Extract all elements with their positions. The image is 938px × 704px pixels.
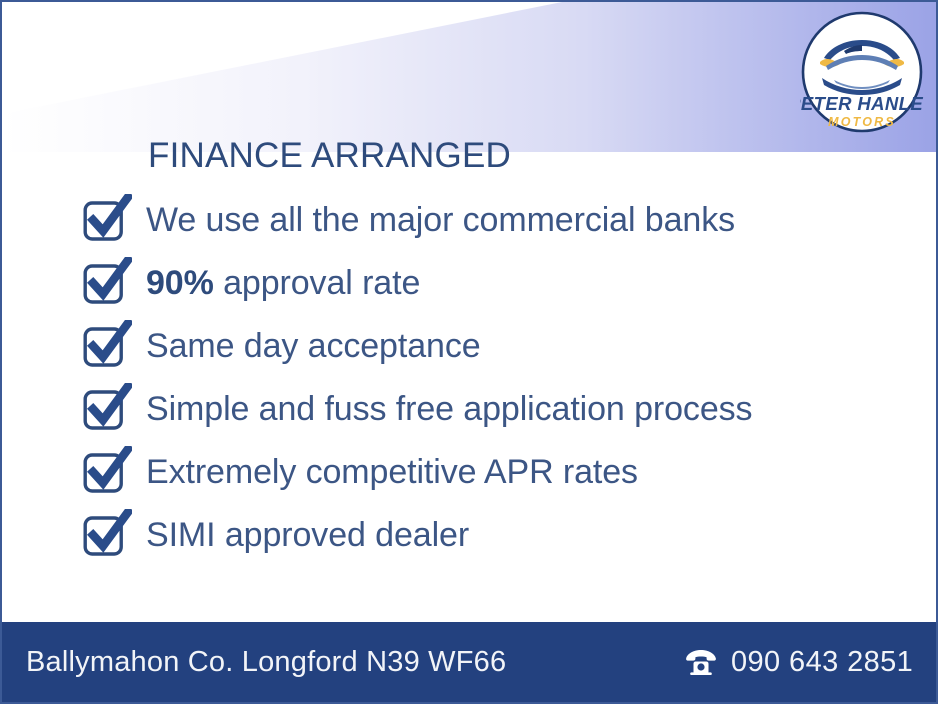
list-item-label: We use all the major commercial banks [146,203,735,237]
list-item: We use all the major commercial banks [82,188,882,251]
dealer-logo: PETER HANLEY MOTORS [800,10,924,134]
list-item-text: Simple and fuss free application process [146,390,752,428]
checkbox-checked-icon [82,194,132,246]
list-item-label: 90% approval rate [146,266,420,300]
checkbox-checked-icon [82,383,132,435]
list-item-label: Extremely competitive APR rates [146,455,638,489]
list-item-text: approval rate [214,264,421,302]
list-item: SIMI approved dealer [82,503,882,566]
footer-contact: 090 643 2851 [684,646,913,679]
page-title: FINANCE ARRANGED [148,136,511,176]
list-item: Extremely competitive APR rates [82,440,882,503]
list-item: Same day acceptance [82,314,882,377]
footer-phone-number: 090 643 2851 [731,646,913,679]
list-item: 90% approval rate [82,251,882,314]
telephone-icon [684,648,718,676]
checkbox-checked-icon [82,446,132,498]
feature-list: We use all the major commercial banks 90… [82,188,882,566]
logo-name-top: PETER HANLEY [800,93,924,114]
list-item-text: Extremely competitive APR rates [146,453,638,491]
list-item-label: SIMI approved dealer [146,518,469,552]
advertisement-canvas: PETER HANLEY MOTORS FINANCE ARRANGED We … [0,0,938,704]
list-item-text: SIMI approved dealer [146,516,469,554]
checkbox-checked-icon [82,509,132,561]
list-item-label: Simple and fuss free application process [146,392,752,426]
list-item-text: We use all the major commercial banks [146,201,735,239]
checkbox-checked-icon [82,320,132,372]
list-item: Simple and fuss free application process [82,377,882,440]
list-item-text: Same day acceptance [146,327,481,365]
footer-address: Ballymahon Co. Longford N39 WF66 [26,646,506,679]
list-item-emphasis: 90% [146,264,214,302]
footer-bar: Ballymahon Co. Longford N39 WF66 090 643… [2,622,936,702]
checkbox-checked-icon [82,257,132,309]
list-item-label: Same day acceptance [146,329,481,363]
logo-name-bottom: MOTORS [828,115,896,129]
